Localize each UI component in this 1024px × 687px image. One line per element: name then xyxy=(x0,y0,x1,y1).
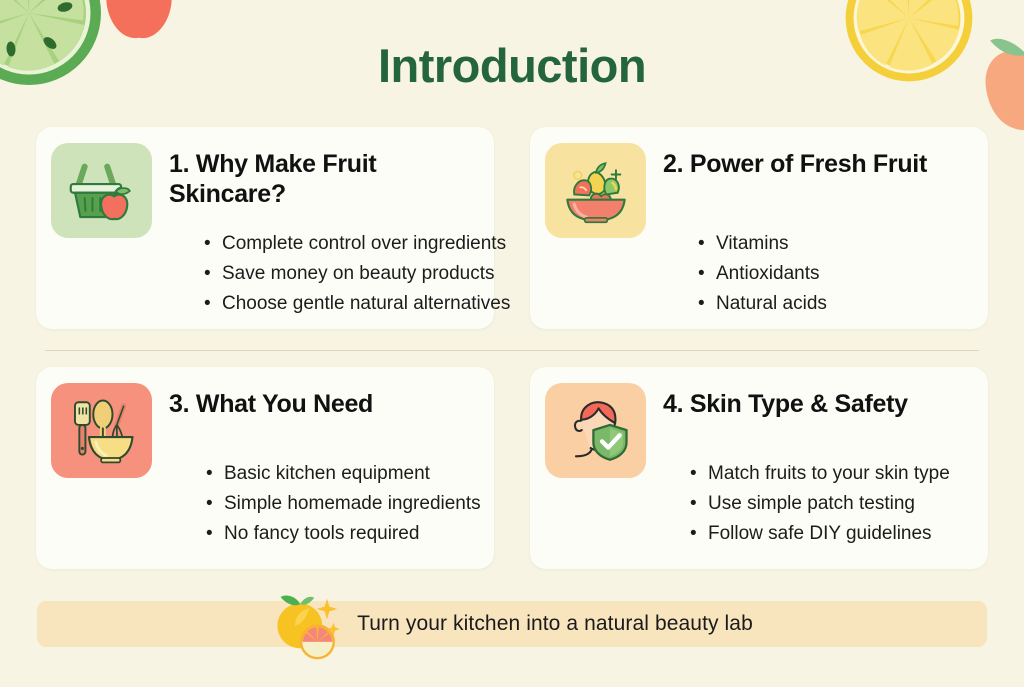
card-title: 3. What You Need xyxy=(169,383,373,420)
row-divider xyxy=(45,350,979,351)
icon-tile xyxy=(51,143,152,238)
list-item: Match fruits to your skin type xyxy=(690,459,978,489)
cards-grid: 1. Why Make Fruit Skincare? Complete con… xyxy=(36,127,988,579)
card-bullets: Basic kitchen equipment Simple homemade … xyxy=(206,459,484,549)
card-title: 1. Why Make Fruit Skincare? xyxy=(169,143,480,209)
list-item: Basic kitchen equipment xyxy=(206,459,484,489)
icon-tile xyxy=(545,143,646,238)
card-skin-type-and-safety[interactable]: 4. Skin Type & Safety Match fruits to yo… xyxy=(530,367,988,569)
footer-content: Turn your kitchen into a natural beauty … xyxy=(37,601,987,647)
card-title: 4. Skin Type & Safety xyxy=(663,383,908,420)
footer-text: Turn your kitchen into a natural beauty … xyxy=(357,612,753,636)
list-item: Choose gentle natural alternatives xyxy=(204,289,484,319)
card-header: 1. Why Make Fruit Skincare? xyxy=(51,143,480,238)
card-bullets: Vitamins Antioxidants Natural acids xyxy=(698,229,978,319)
list-item: Vitamins xyxy=(698,229,978,259)
list-item: Antioxidants xyxy=(698,259,978,289)
card-bullets: Complete control over ingredients Save m… xyxy=(204,229,484,319)
icon-tile xyxy=(545,383,646,478)
card-bullets: Match fruits to your skin type Use simpl… xyxy=(690,459,978,549)
list-item: Save money on beauty products xyxy=(204,259,484,289)
list-item: Natural acids xyxy=(698,289,978,319)
page-title: Introduction xyxy=(0,38,1024,93)
list-item: No fancy tools required xyxy=(206,519,484,549)
face-shield-icon xyxy=(560,397,632,465)
card-what-you-need[interactable]: 3. What You Need Basic kitchen equipment… xyxy=(36,367,494,569)
slide-canvas: Introduction xyxy=(0,0,1024,687)
fruit-bowl-icon xyxy=(560,158,632,224)
card-power-of-fresh-fruit[interactable]: 2. Power of Fresh Fruit Vitamins Antioxi… xyxy=(530,127,988,329)
list-item: Follow safe DIY guidelines xyxy=(690,519,978,549)
card-title: 2. Power of Fresh Fruit xyxy=(663,143,927,180)
card-why-make-fruit-skincare[interactable]: 1. Why Make Fruit Skincare? Complete con… xyxy=(36,127,494,329)
icon-tile xyxy=(51,383,152,478)
kitchen-utensils-icon xyxy=(66,397,138,465)
card-header: 2. Power of Fresh Fruit xyxy=(545,143,974,238)
list-item: Use simple patch testing xyxy=(690,489,978,519)
citrus-sparkle-icon xyxy=(271,589,343,661)
list-item: Complete control over ingredients xyxy=(204,229,484,259)
shopping-basket-apple-icon xyxy=(67,158,137,224)
list-item: Simple homemade ingredients xyxy=(206,489,484,519)
